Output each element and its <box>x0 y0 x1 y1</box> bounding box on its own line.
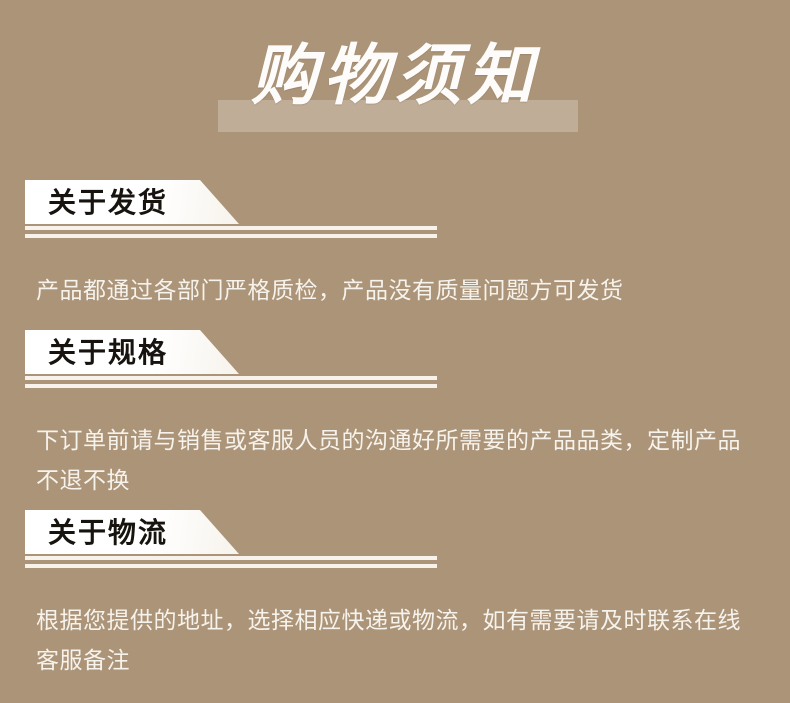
section-logistics: 关于物流 根据您提供的地址，选择相应快递或物流，如有需要请及时联系在线客服备注 <box>0 510 790 566</box>
header-rule-top <box>25 226 437 230</box>
page-title-block: 购物须知 <box>0 0 790 150</box>
header-rule-bottom <box>25 384 437 388</box>
section-header-label: 关于发货 <box>48 182 168 224</box>
section-body-text: 根据您提供的地址，选择相应快递或物流，如有需要请及时联系在线客服备注 <box>36 600 756 680</box>
header-rule-bottom <box>25 234 437 238</box>
section-specification: 关于规格 下订单前请与销售或客服人员的沟通好所需要的产品品类，定制产品不退不换 <box>0 330 790 386</box>
section-shipping: 关于发货 产品都通过各部门严格质检，产品没有质量问题方可发货 <box>0 180 790 236</box>
header-rule-top <box>25 376 437 380</box>
section-body-text: 下订单前请与销售或客服人员的沟通好所需要的产品品类，定制产品不退不换 <box>36 420 756 500</box>
section-header-label: 关于物流 <box>48 512 168 554</box>
page-title: 购物须知 <box>0 36 790 114</box>
header-rule-top <box>25 556 437 560</box>
section-body-text: 产品都通过各部门严格质检，产品没有质量问题方可发货 <box>36 270 756 310</box>
header-rule-bottom <box>25 564 437 568</box>
section-header-label: 关于规格 <box>48 332 168 374</box>
